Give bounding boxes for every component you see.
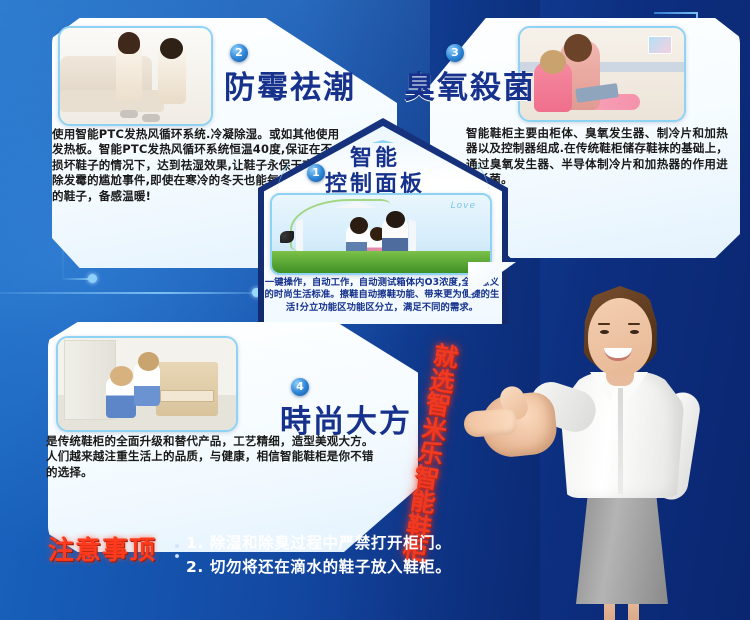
warning-label: 注意事顶 [48,530,156,567]
control-panel-heading-line1: 智能 [0,146,750,172]
feature-number-badge-1: 1 [307,164,325,182]
feature-number-badge-2: 2 [230,44,248,62]
feature-body-control-panel: 一键操作，自动工作，自动测试箱体内O3浓度,全新意义的时尚生活标准。擦鞋自动擦鞋… [264,277,500,314]
warning-list: 1. 除湿和除臭过程中严禁打开柜门。 2. 切勿将还在滴水的鞋子放入鞋柜。 [186,531,451,579]
divider-rule [0,292,270,294]
feature-body-fashionable-design: 是传统鞋柜的全面升级和替代产品，工艺精细，造型美观大方。人们越来越注重生活上的品… [46,434,376,480]
feature-number-badge-4: 4 [291,378,309,396]
children-putting-on-slippers-photo [58,26,213,126]
feature-number-badge-3: 3 [446,44,464,62]
warning-item-1: 1. 除湿和除臭过程中严禁打开柜门。 [186,531,451,555]
infographic-canvas: 2 防霉祛潮 使用智能PTC发热风循环系统.冷凝除湿。或如其他使用发热板。智能P… [0,0,750,620]
family-on-grass-photo: Love [270,193,492,275]
pointing-businesswoman-photo [478,268,750,620]
mother-and-daughter-reading-photo [518,26,686,122]
two-boys-by-shoe-cabinet-photo [56,336,238,432]
bracket-left-dot [88,274,97,283]
warning-item-2: 2. 切勿将还在滴水的鞋子放入鞋柜。 [186,555,451,579]
feature-heading-control-panel: 智能 控制面板 [0,146,750,198]
bracket-right-top [654,12,698,14]
feature-heading-mold-prevention: 防霉祛潮 [224,62,356,107]
photo-watermark: Love [451,201,476,211]
feature-heading-ozone-sterilization: 臭氧殺菌 [404,62,536,107]
